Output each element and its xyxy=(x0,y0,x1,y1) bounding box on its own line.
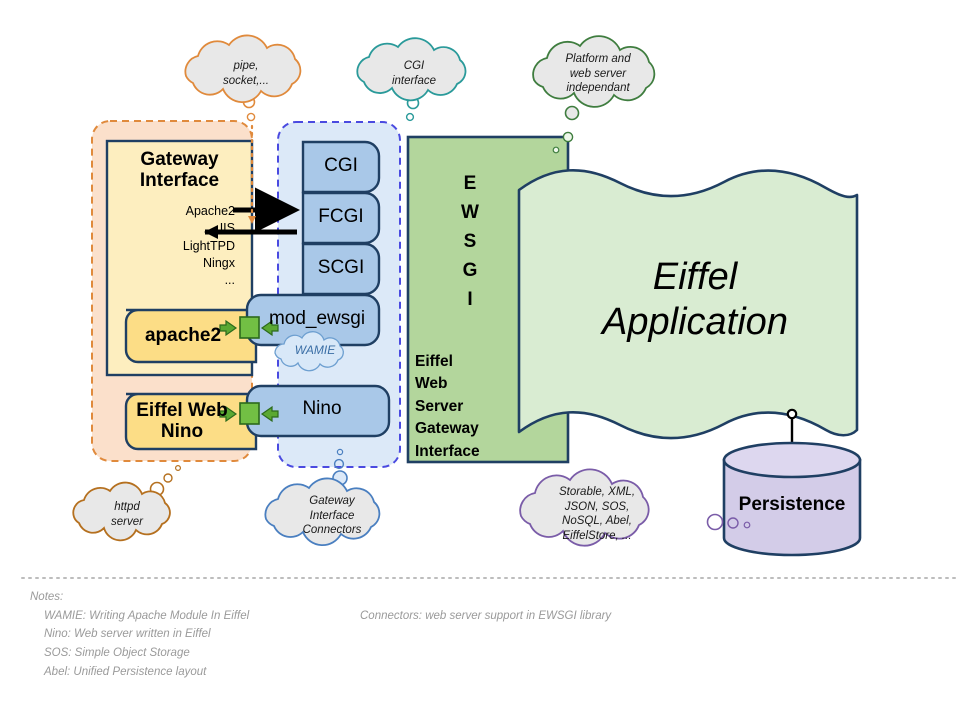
server-item: Ningx xyxy=(110,255,235,272)
cloud-line: server xyxy=(74,515,180,530)
notes-heading: Notes: xyxy=(30,588,930,607)
cloud-line: CGI xyxy=(358,59,470,74)
cloud-persistence-tech-label: Storable, XML, JSON, SOS, NoSQL, Abel, E… xyxy=(525,485,669,544)
note-item: SOS: Simple Object Storage xyxy=(44,644,930,663)
expansion-line: Eiffel xyxy=(415,351,535,373)
cloud-line: Interface xyxy=(268,509,396,524)
bubble-trail-httpd xyxy=(151,466,181,496)
acronym-letter: E xyxy=(447,170,493,199)
server-item: Apache2 xyxy=(110,203,235,220)
cloud-line: Platform and xyxy=(536,52,660,67)
gateway-server-list: Apache2 IIS LightTPD Ningx ... xyxy=(110,203,235,289)
cloud-platform-independent-label: Platform and web server independant xyxy=(536,52,660,96)
expansion-line: Web xyxy=(415,373,535,395)
cloud-line: httpd xyxy=(74,500,180,515)
ewsgi-expansion: Eiffel Web Server Gateway Interface xyxy=(415,351,535,463)
cloud-line: independant xyxy=(536,81,660,96)
app-line: Application xyxy=(560,300,830,345)
connector-nino-label[interactable]: Nino xyxy=(258,398,386,419)
cloud-pipe-socket-label: pipe, socket,... xyxy=(186,59,306,88)
connector-fcgi-label[interactable]: FCGI xyxy=(303,206,379,227)
cloud-gateway-connectors-label: Gateway Interface Connectors xyxy=(268,494,396,538)
connector-cgi-label[interactable]: CGI xyxy=(303,155,379,176)
connector-mod-ewsgi-label[interactable]: mod_ewsgi xyxy=(258,308,376,329)
acronym-letter: S xyxy=(447,228,493,257)
note-item: Nino: Web server written in Eiffel xyxy=(44,625,930,644)
expansion-line: Server xyxy=(415,396,535,418)
label-line: Nino xyxy=(126,421,238,442)
app-line: Eiffel xyxy=(560,255,830,300)
cloud-line: web server xyxy=(536,67,660,82)
ewsgi-acronym: E W S G I xyxy=(447,170,493,314)
notes-block: Notes: WAMIE: Writing Apache Module In E… xyxy=(30,588,930,681)
cloud-line: Gateway xyxy=(268,494,396,509)
cloud-line: JSON, SOS, xyxy=(525,500,669,515)
cloud-line: pipe, xyxy=(186,59,306,74)
server-item: ... xyxy=(110,272,235,289)
cloud-httpd-server-label: httpd server xyxy=(74,500,180,529)
note-item: Abel: Unified Persistence layout xyxy=(44,663,930,682)
cloud-line: Connectors xyxy=(268,523,396,538)
server-item: LightTPD xyxy=(110,238,235,255)
title-line: Gateway xyxy=(107,149,252,170)
gateway-interface-title: Gateway Interface xyxy=(107,149,252,192)
diagram-canvas: pipe, socket,... CGI interface Platform … xyxy=(0,0,960,720)
expansion-line: Interface xyxy=(415,441,535,463)
cloud-line: interface xyxy=(358,74,470,89)
notes-right-column: Connectors: web server support in EWSGI … xyxy=(360,607,611,626)
server-item: IIS xyxy=(110,220,235,237)
connector-scgi-label[interactable]: SCGI xyxy=(303,257,379,278)
acronym-letter: G xyxy=(447,257,493,286)
acronym-letter: I xyxy=(447,286,493,315)
eiffel-web-nino-label[interactable]: Eiffel Web Nino xyxy=(126,400,238,443)
persistence-label: Persistence xyxy=(724,494,860,515)
note-item: Connectors: web server support in EWSGI … xyxy=(360,607,611,626)
cloud-line: socket,... xyxy=(186,74,306,89)
apache2-label[interactable]: apache2 xyxy=(128,325,238,346)
label-line: Eiffel Web xyxy=(126,400,238,421)
acronym-letter: W xyxy=(447,199,493,228)
cloud-line: NoSQL, Abel, xyxy=(525,514,669,529)
eiffel-application-label: Eiffel Application xyxy=(560,255,830,345)
bubble-trail-platform xyxy=(566,107,579,120)
expansion-line: Gateway xyxy=(415,418,535,440)
wamie-cloud-label: WAMIE xyxy=(276,343,354,358)
cloud-line: EiffelStore, ... xyxy=(525,529,669,544)
cloud-line: Storable, XML, xyxy=(525,485,669,500)
title-line: Interface xyxy=(107,170,252,191)
cloud-cgi-interface-label: CGI interface xyxy=(358,59,470,88)
